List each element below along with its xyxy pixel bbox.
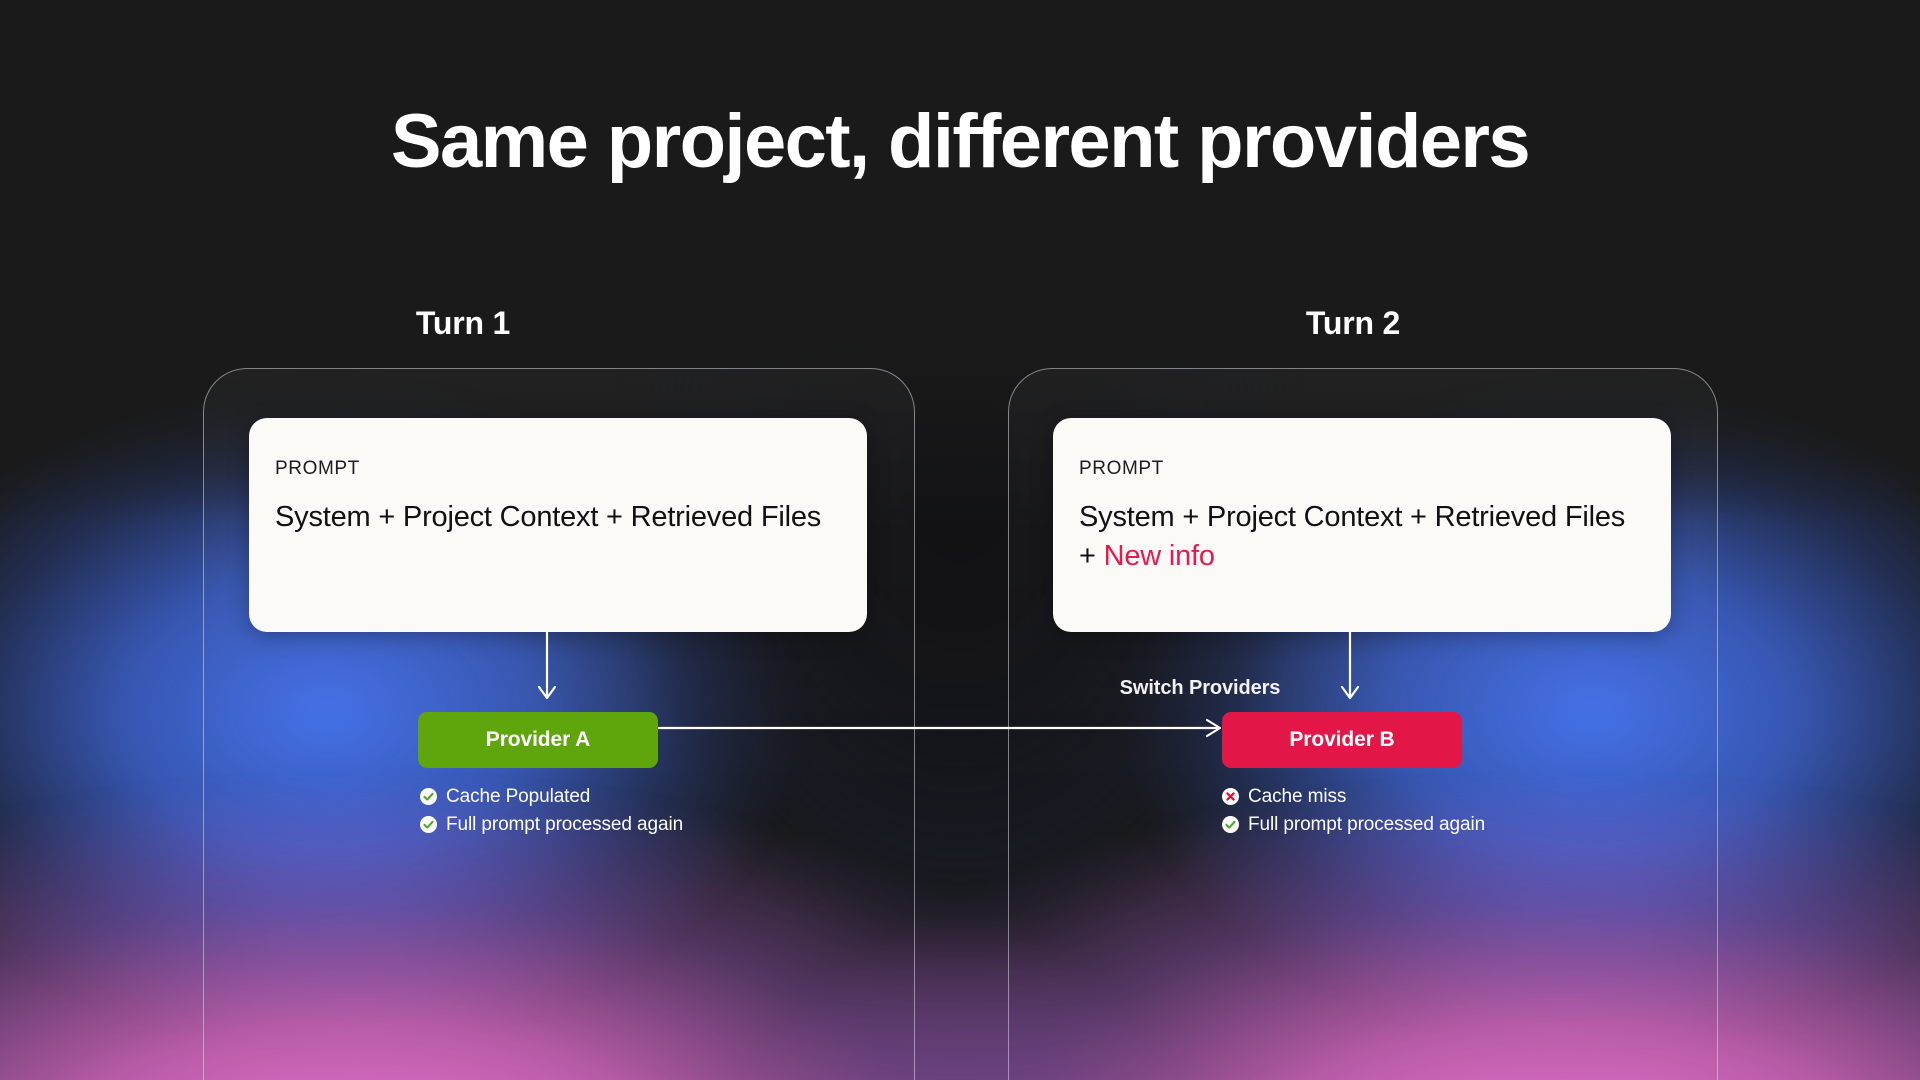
prompt-card-turn-2: PROMPT System + Project Context + Retrie… [1053,418,1671,632]
switch-providers-label: Switch Providers [700,677,1700,700]
prompt-body-text-turn-1: System + Project Context + Retrieved Fil… [275,501,821,533]
check-circle-icon [420,816,437,833]
status-item: Full prompt processed again [420,815,683,834]
status-list-turn-2: Cache miss Full prompt processed again [1222,787,1485,843]
down-arrow-turn-1 [535,632,559,709]
prompt-kicker-turn-2: PROMPT [1079,458,1645,480]
page-title: Same project, different providers [0,104,1920,180]
prompt-body-turn-2: System + Project Context + Retrieved Fil… [1079,498,1645,577]
status-item-label: Cache miss [1248,787,1346,806]
status-item: Full prompt processed again [1222,815,1485,834]
provider-b-label: Provider B [1289,728,1394,752]
status-item: Cache miss [1222,787,1485,806]
status-item-label: Full prompt processed again [446,815,683,834]
prompt-card-turn-1: PROMPT System + Project Context + Retrie… [249,418,867,632]
prompt-body-accent-turn-2: New info [1104,540,1215,572]
check-circle-icon [1222,816,1239,833]
status-item-label: Cache Populated [446,787,590,806]
status-item: Cache Populated [420,787,683,806]
prompt-body-turn-1: System + Project Context + Retrieved Fil… [275,498,841,537]
switch-providers-arrow [658,716,1226,745]
turn-2-label: Turn 2 [1233,305,1473,342]
prompt-kicker-turn-1: PROMPT [275,458,841,480]
provider-a-node[interactable]: Provider A [418,712,658,768]
status-item-label: Full prompt processed again [1248,815,1485,834]
check-circle-icon [420,788,437,805]
x-circle-icon [1222,788,1239,805]
provider-a-label: Provider A [486,728,590,752]
provider-b-node[interactable]: Provider B [1222,712,1462,768]
turn-1-label: Turn 1 [343,305,583,342]
status-list-turn-1: Cache Populated Full prompt processed ag… [420,787,683,843]
diagram-canvas: Same project, different providers Turn 1… [0,0,1920,1080]
